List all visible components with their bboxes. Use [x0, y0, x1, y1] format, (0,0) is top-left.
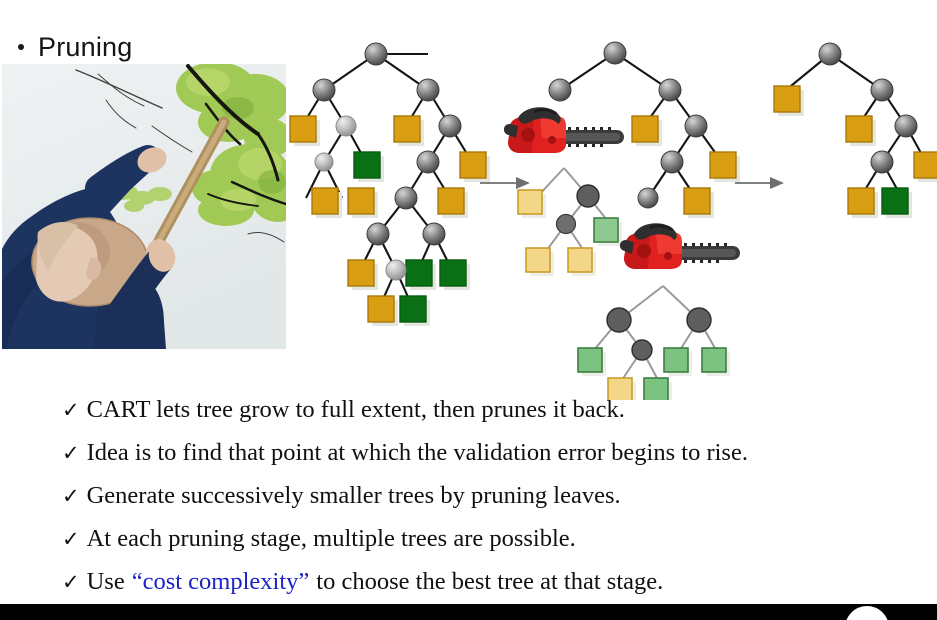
tree-mid-nodes	[549, 42, 707, 208]
chainsaw-2	[620, 223, 740, 269]
chainsaw-1	[504, 107, 624, 153]
pruning-photo	[2, 64, 286, 349]
bottom-black-bar	[0, 604, 937, 620]
arrow-right-2	[735, 177, 784, 189]
check-icon: ✓	[62, 443, 80, 464]
list-item-text: CART lets tree grow to full extent, then…	[87, 396, 625, 424]
list-item-text: Generate successively smaller trees by p…	[87, 482, 621, 510]
chainsaw-body-1	[504, 107, 566, 153]
list-item: ✓ Idea is to find that point at which th…	[62, 439, 922, 482]
bullet-list: ✓ CART lets tree grow to full extent, th…	[62, 396, 922, 611]
tree-full	[290, 43, 490, 326]
check-icon: ✓	[62, 572, 80, 593]
tree-pruned-green-leaves	[882, 188, 908, 214]
page-title: Pruning	[38, 32, 132, 63]
tree-full-shadows	[294, 120, 490, 326]
bottom-bar-notch	[845, 606, 889, 620]
check-icon: ✓	[62, 486, 80, 507]
slide-title-bullet: Pruning	[18, 32, 132, 63]
severed-subtree-upper	[518, 185, 622, 276]
slide-canvas: Pruning	[0, 0, 937, 620]
check-icon: ✓	[62, 400, 80, 421]
tree-full-orange-leaves	[290, 116, 486, 322]
tree-full-nodes	[313, 43, 461, 280]
list-item-text: At each pruning stage, multiple trees ar…	[87, 525, 576, 553]
tree-pruned-nodes	[819, 43, 917, 173]
list-item: ✓ Generate successively smaller trees by…	[62, 482, 922, 525]
severed-subtree-lower-edges	[594, 286, 716, 380]
bullet-dot-icon	[18, 44, 24, 50]
check-icon: ✓	[62, 529, 80, 550]
tree-being-pruned	[504, 42, 740, 400]
list-item-text-pre: Use	[87, 568, 125, 596]
chainsaw-body-2	[620, 223, 682, 269]
severed-subtree-lower	[578, 308, 730, 400]
list-item: ✓ At each pruning stage, multiple trees …	[62, 525, 922, 568]
tree-pruned-orange-leaves	[774, 86, 937, 214]
cost-complexity-term: “cost complexity”	[132, 568, 310, 596]
tree-pruned	[774, 43, 937, 218]
list-item-text: Idea is to find that point at which the …	[87, 439, 748, 467]
tree-pruning-diagram	[286, 28, 937, 400]
list-item: ✓ CART lets tree grow to full extent, th…	[62, 396, 922, 439]
list-item-text-post: to choose the best tree at that stage.	[316, 568, 663, 596]
